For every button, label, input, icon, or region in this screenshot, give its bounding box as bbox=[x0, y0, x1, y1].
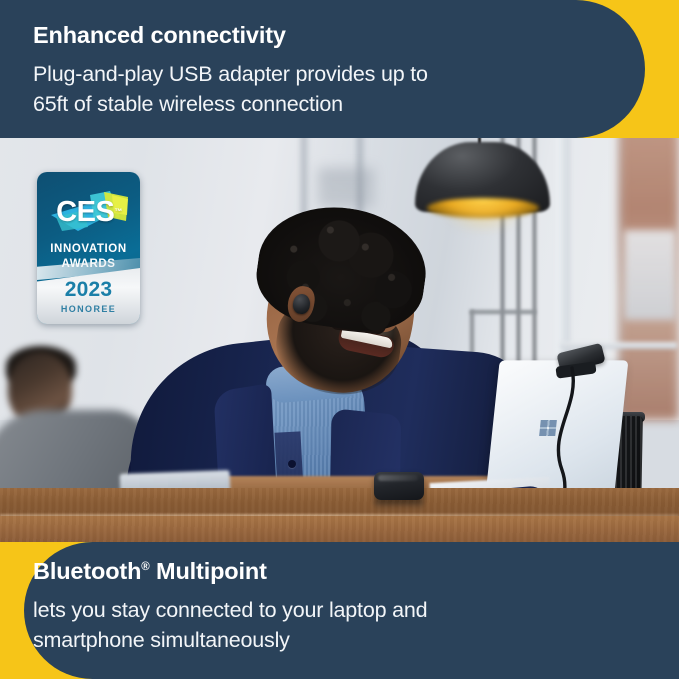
top-banner-text: Enhanced connectivity Plug-and-play USB … bbox=[33, 24, 428, 119]
ces-innovation-award-badge: CES™ INNOVATION AWARDS 2023 HONOREE bbox=[37, 172, 140, 324]
top-feature-banner: Enhanced connectivity Plug-and-play USB … bbox=[0, 0, 679, 138]
ces-logo: CES™ bbox=[48, 187, 130, 237]
laptop-logo bbox=[539, 420, 557, 436]
badge-year: 2023 bbox=[37, 278, 140, 302]
ces-wordmark: CES™ bbox=[48, 187, 130, 237]
bottom-banner-body-line-2: smartphone simultaneously bbox=[33, 625, 427, 655]
product-feature-graphic: CES™ INNOVATION AWARDS 2023 HONOREE Enha… bbox=[0, 0, 679, 679]
jacket-button bbox=[288, 460, 296, 468]
top-banner-heading: Enhanced connectivity bbox=[33, 24, 428, 48]
bottom-banner-body-line-1: lets you stay connected to your laptop a… bbox=[33, 595, 427, 625]
badge-line-innovation: INNOVATION bbox=[37, 242, 140, 257]
registered-trademark-icon: ® bbox=[141, 561, 149, 573]
bottom-feature-banner: Bluetooth® Multipoint lets you stay conn… bbox=[0, 542, 679, 679]
charging-case-reflection bbox=[374, 500, 424, 512]
badge-honoree-label: HONOREE bbox=[37, 304, 140, 314]
charging-case-highlight bbox=[378, 475, 418, 481]
bottom-banner-heading-feature: Multipoint bbox=[156, 558, 267, 584]
bottom-banner-heading: Bluetooth® Multipoint bbox=[33, 560, 427, 584]
bottom-banner-heading-brand: Bluetooth bbox=[33, 558, 141, 584]
ces-wordmark-text: CES bbox=[56, 196, 114, 229]
top-banner-body-line-2: 65ft of stable wireless connection bbox=[33, 89, 428, 119]
bottom-banner-text: Bluetooth® Multipoint lets you stay conn… bbox=[33, 560, 427, 655]
top-banner-body-line-1: Plug-and-play USB adapter provides up to bbox=[33, 59, 428, 89]
